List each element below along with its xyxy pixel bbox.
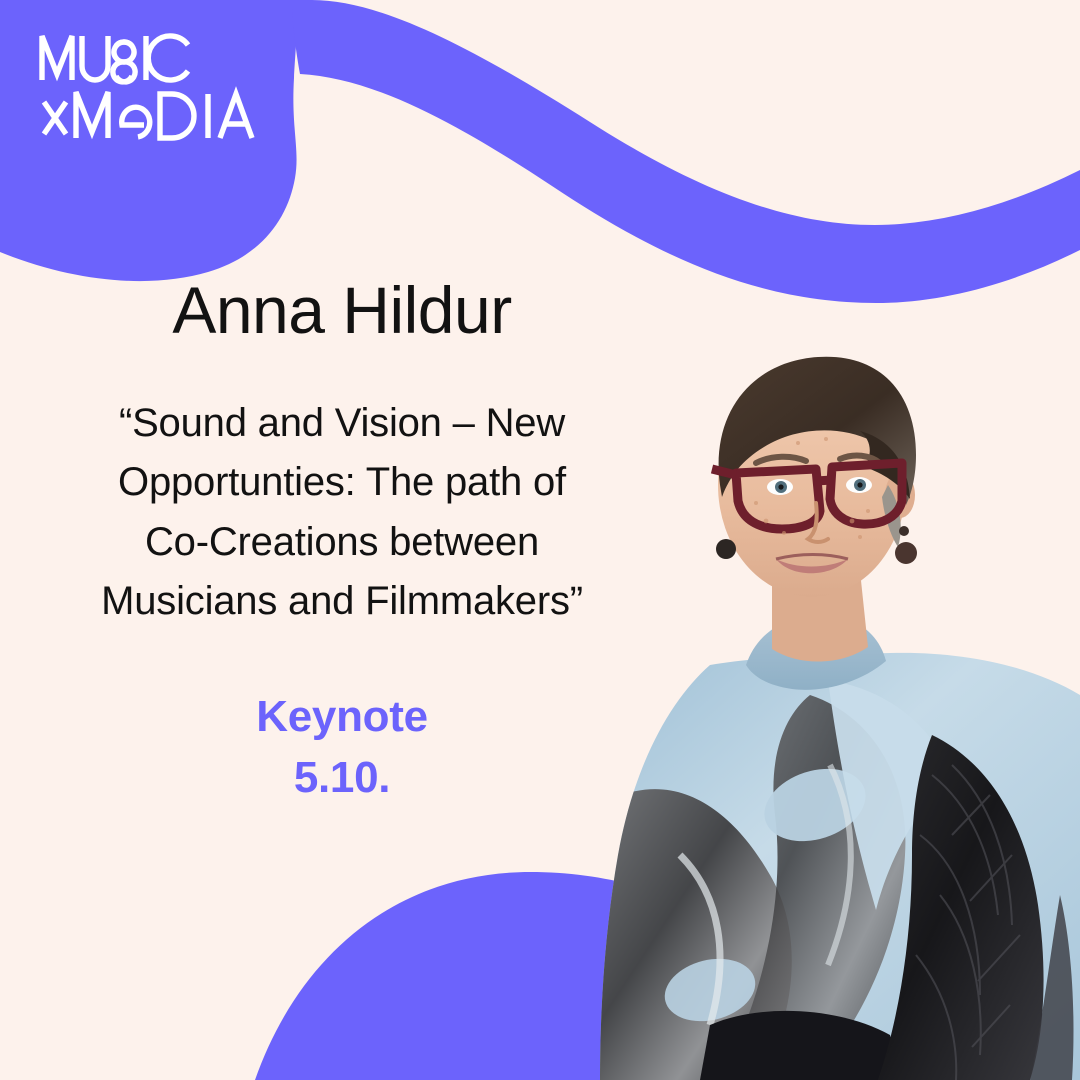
session-type-label: Keynote — [32, 687, 652, 748]
talk-title-line: Musicians and Filmmakers” — [32, 572, 652, 631]
talk-title-line: Co-Creations between — [32, 513, 652, 572]
music-x-media-logo[interactable] — [36, 26, 266, 146]
talk-title: “Sound and Vision – New Opportunties: Th… — [32, 394, 652, 631]
speaker-head — [712, 357, 917, 597]
talk-title-line: “Sound and Vision – New — [32, 394, 652, 453]
speaker-clothing — [600, 615, 1080, 1080]
purple-ribbon-wave — [292, 0, 1080, 303]
session-info: Keynote 5.10. — [32, 687, 652, 808]
poster-text-block: Anna Hildur “Sound and Vision – New Oppo… — [32, 275, 652, 808]
talk-title-line: Opportunties: The path of — [32, 453, 652, 512]
promo-poster: Anna Hildur “Sound and Vision – New Oppo… — [0, 0, 1080, 1080]
session-date-label: 5.10. — [32, 748, 652, 809]
speaker-name: Anna Hildur — [32, 275, 652, 346]
